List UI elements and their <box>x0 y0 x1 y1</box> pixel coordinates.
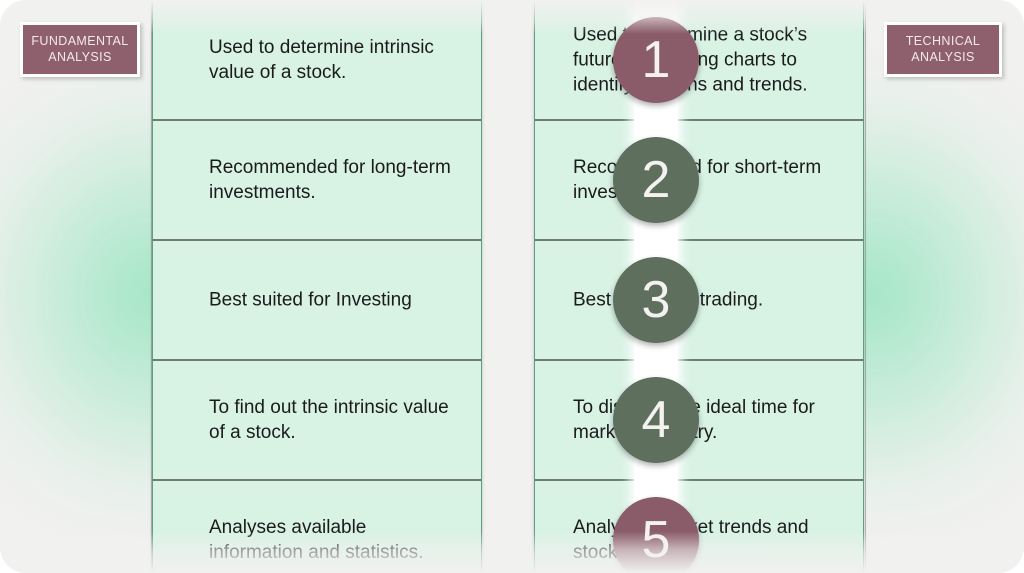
row-4-technical-cell: To discover the ideal time for market ex… <box>534 360 864 480</box>
step-circle-4: 4 <box>613 377 699 463</box>
technical-analysis-badge: TECHNICAL ANALYSIS <box>884 22 1002 77</box>
row-2-fundamental-cell: Recommended for long-term investments. <box>152 120 482 240</box>
row-1-fundamental-text: Used to determine intrinsic value of a s… <box>209 35 465 85</box>
comparison-card: Used to determine intrinsic value of a s… <box>0 0 1024 573</box>
comparison-row-5: Analyses available information and stati… <box>152 480 864 573</box>
row-5-technical-cell: Analyses market trends and stock prices. <box>534 480 864 573</box>
comparison-row-1: Used to determine intrinsic value of a s… <box>152 0 864 120</box>
comparison-row-3: Best suited for Investing Best suited fo… <box>152 240 864 360</box>
fundamental-analysis-badge: FUNDAMENTAL ANALYSIS <box>20 22 140 77</box>
row-3-fundamental-cell: Best suited for Investing <box>152 240 482 360</box>
step-number-3: 3 <box>642 274 671 326</box>
row-1-fundamental-cell: Used to determine intrinsic value of a s… <box>152 0 482 120</box>
step-circle-5: 5 <box>613 497 699 573</box>
row-4-fundamental-text: To find out the intrinsic value of a sto… <box>209 395 465 445</box>
step-number-2: 2 <box>642 154 671 206</box>
step-number-4: 4 <box>642 394 671 446</box>
step-number-5: 5 <box>642 514 671 566</box>
row-3-technical-cell: Best suited for trading. <box>534 240 864 360</box>
row-4-fundamental-cell: To find out the intrinsic value of a sto… <box>152 360 482 480</box>
step-circle-1: 1 <box>613 17 699 103</box>
step-circle-2: 2 <box>613 137 699 223</box>
comparison-row-4: To find out the intrinsic value of a sto… <box>152 360 864 480</box>
row-2-fundamental-text: Recommended for long-term investments. <box>209 155 465 205</box>
row-2-technical-cell: Recommended for short-term investments. <box>534 120 864 240</box>
step-number-1: 1 <box>642 34 671 86</box>
row-5-fundamental-text: Analyses available information and stati… <box>209 515 465 565</box>
infographic-canvas: Used to determine intrinsic value of a s… <box>0 0 1024 573</box>
step-circle-3: 3 <box>613 257 699 343</box>
comparison-row-2: Recommended for long-term investments. R… <box>152 120 864 240</box>
row-5-fundamental-cell: Analyses available information and stati… <box>152 480 482 573</box>
right-column-divider <box>865 0 866 573</box>
comparison-grid: Used to determine intrinsic value of a s… <box>152 0 864 573</box>
row-1-technical-cell: Used to determine a stock’s future price… <box>534 0 864 120</box>
row-3-fundamental-text: Best suited for Investing <box>209 288 465 313</box>
